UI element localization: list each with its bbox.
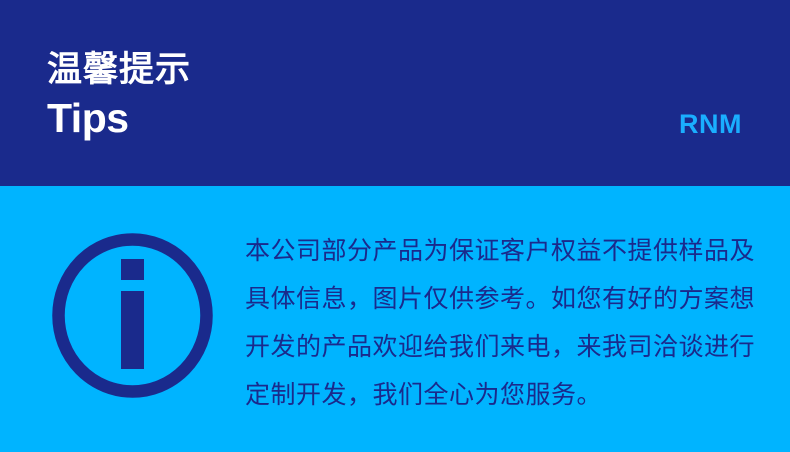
- page-title-en: Tips: [47, 95, 129, 141]
- message-line: 本公司部分产品为保证客户权益不提供样品及: [245, 227, 745, 275]
- brand-logo-text: RNM: [679, 108, 742, 140]
- banner-header: 温馨提示 Tips RNM: [0, 0, 790, 186]
- tips-banner: 温馨提示 Tips RNM 本公司部分产品为保证客户权益不提供样品及 具体信息，…: [0, 0, 790, 452]
- banner-body: 本公司部分产品为保证客户权益不提供样品及 具体信息，图片仅供参考。如您有好的方案…: [0, 186, 790, 452]
- message-line: 具体信息，图片仅供参考。如您有好的方案想: [245, 275, 745, 323]
- message-line: 开发的产品欢迎给我们来电，来我司洽谈进行: [245, 323, 745, 371]
- message-text-block: 本公司部分产品为保证客户权益不提供样品及 具体信息，图片仅供参考。如您有好的方案…: [245, 227, 745, 419]
- page-title-cn: 温馨提示: [47, 48, 191, 92]
- message-line: 定制开发，我们全心为您服务。: [245, 371, 745, 419]
- info-circle-icon: [52, 233, 213, 398]
